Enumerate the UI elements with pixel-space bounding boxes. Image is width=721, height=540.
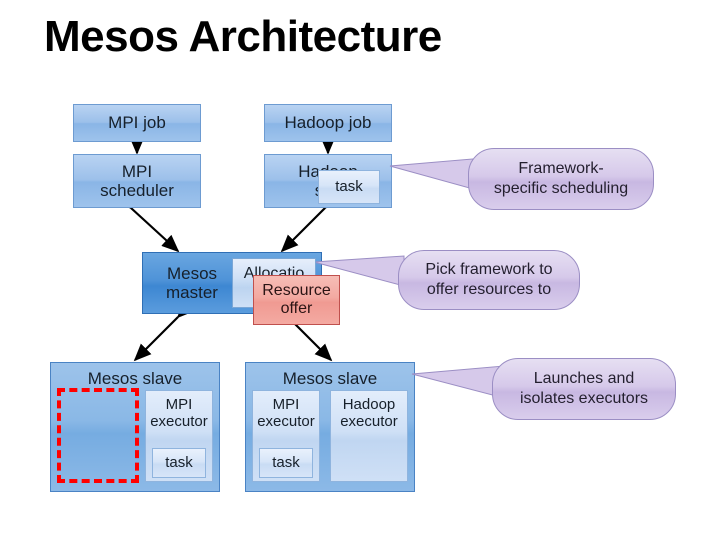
mpi-scheduler-label-line1: MPI [74, 162, 200, 181]
mesos-slave-left-dashed-highlight [57, 388, 139, 483]
hadoop-executor-box-right[interactable]: Hadoop executor [330, 390, 408, 482]
resource-offer-label-line1: Resource [254, 282, 339, 300]
arrow-mpi-scheduler-to-master [131, 208, 178, 251]
hadoop-scheduler-overlay-task-label: task [319, 179, 379, 196]
callout-launches-and-isolates-executors[interactable]: Launches and isolates executors [492, 358, 676, 420]
mpi-executor-left-line2: executor [146, 414, 212, 431]
callout-3-line2: isolates executors [520, 389, 648, 409]
mpi-executor-right-line2: executor [253, 414, 319, 431]
slide-title: Mesos Architecture [44, 12, 442, 62]
task-box-right-mpi[interactable]: task [259, 448, 313, 478]
callout-pick-framework-to-offer-resources-to[interactable]: Pick framework to offer resources to [398, 250, 580, 310]
mesos-slave-left-title: Mesos slave [51, 369, 219, 388]
mpi-scheduler-box[interactable]: MPI scheduler [73, 154, 201, 208]
arrow-master-to-slave-left [135, 317, 178, 360]
callout-2-line1: Pick framework to [425, 260, 552, 280]
mpi-scheduler-label-line2: scheduler [74, 181, 200, 200]
hadoop-scheduler-overlay-task-box[interactable]: task [318, 170, 380, 204]
callout-1-line1: Framework- [494, 159, 628, 179]
hadoop-job-label: Hadoop job [265, 113, 391, 132]
callout-1-line2: specific scheduling [494, 179, 628, 199]
callout-2-line2: offer resources to [425, 280, 552, 300]
resource-offer-label-line2: offer [254, 300, 339, 318]
task-box-left-mpi[interactable]: task [152, 448, 206, 478]
hadoop-executor-right-line1: Hadoop [331, 397, 407, 414]
slide-canvas: Mesos Architecture MPI job MPI scheduler… [0, 0, 721, 540]
resource-offer-box[interactable]: Resource offer [253, 275, 340, 325]
callout-framework-specific-scheduling[interactable]: Framework- specific scheduling [468, 148, 654, 210]
mesos-slave-right-title: Mesos slave [246, 369, 414, 388]
task-label-left-mpi: task [153, 455, 205, 472]
arrow-hadoop-scheduler-to-master [282, 208, 325, 251]
task-label-right-mpi: task [260, 455, 312, 472]
callout-3-line1: Launches and [520, 369, 648, 389]
hadoop-executor-right-line2: executor [331, 414, 407, 431]
mpi-executor-right-line1: MPI [253, 397, 319, 414]
mpi-executor-left-line1: MPI [146, 397, 212, 414]
mesos-master-label-line2: master [147, 283, 237, 302]
mpi-job-label: MPI job [74, 113, 200, 132]
mpi-job-box[interactable]: MPI job [73, 104, 201, 142]
mesos-master-label-line1: Mesos [147, 264, 237, 283]
hadoop-job-box[interactable]: Hadoop job [264, 104, 392, 142]
